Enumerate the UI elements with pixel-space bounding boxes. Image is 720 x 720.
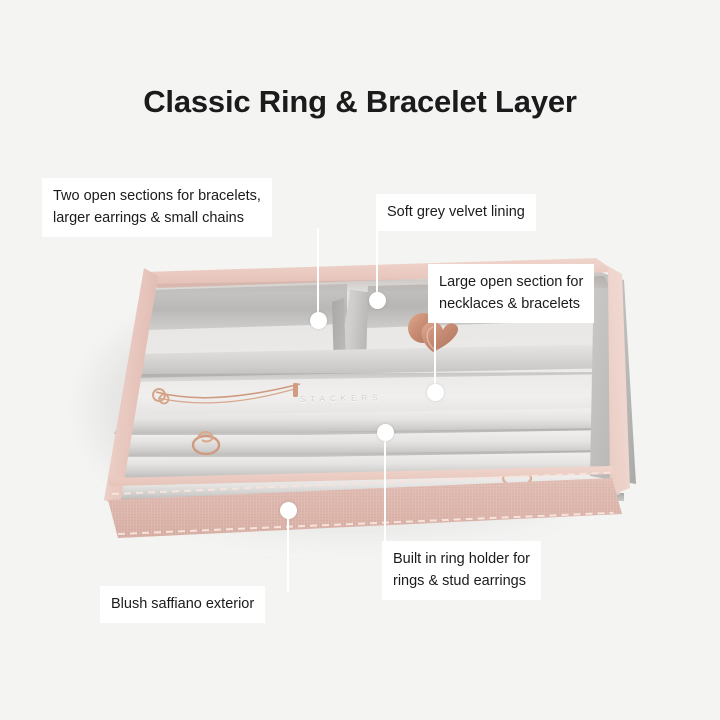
callout-dot-ring-holder[interactable] <box>377 424 394 441</box>
callout-label-ring-holder: Built in ring holder for rings & stud ea… <box>382 541 541 600</box>
callout-label-large-open-section: Large open section for necklaces & brace… <box>428 264 594 323</box>
callout-dot-two-open-sections[interactable] <box>310 312 327 329</box>
callout-label-blush-exterior: Blush saffiano exterior <box>100 586 265 623</box>
ring-left <box>188 428 224 456</box>
callout-dot-large-open-section[interactable] <box>427 384 444 401</box>
leader-line-blush-exterior <box>287 514 289 592</box>
callout-label-two-open-sections: Two open sections for bracelets, larger … <box>42 178 272 237</box>
leader-line-ring-holder <box>384 436 386 546</box>
leader-line-velvet-lining <box>376 226 378 302</box>
leader-line-two-open-sections <box>317 228 319 320</box>
infographic-canvas: Classic Ring & Bracelet Layer <box>0 0 720 720</box>
brand-emboss: STACKERS <box>300 393 383 404</box>
leader-line-large-open-section <box>434 312 436 394</box>
callout-label-velvet-lining: Soft grey velvet lining <box>376 194 536 231</box>
necklace <box>150 378 310 414</box>
callout-dot-velvet-lining[interactable] <box>369 292 386 309</box>
callout-dot-blush-exterior[interactable] <box>280 502 297 519</box>
